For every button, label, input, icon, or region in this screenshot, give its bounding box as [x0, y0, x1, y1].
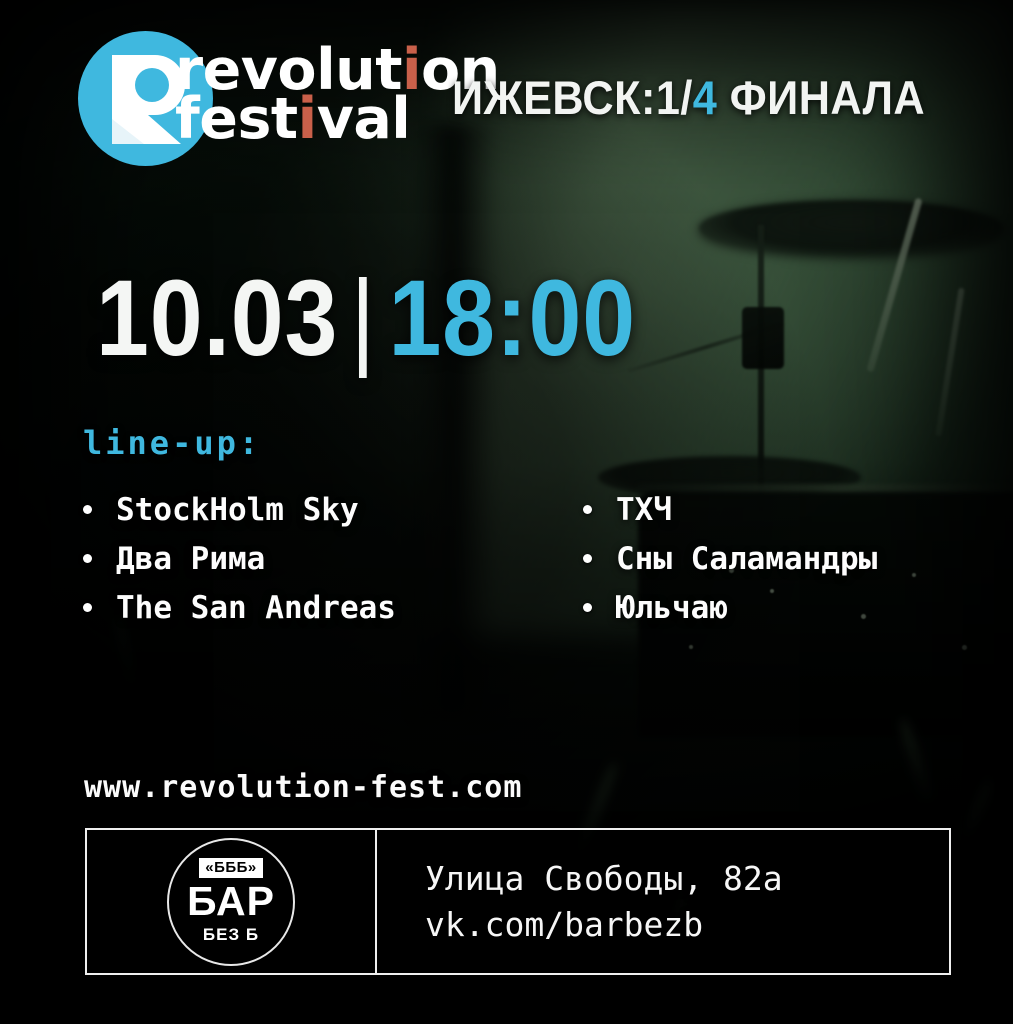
festival-website-url[interactable]: www.revolution-fest.com	[84, 770, 522, 805]
bullet-icon	[583, 554, 592, 563]
venue-logo-cell: «БББ» БАР БЕЗ Б	[87, 830, 377, 973]
list-item: The San Andreas	[83, 590, 583, 639]
band-name: StockHolm Sky	[116, 492, 359, 528]
bullet-icon	[83, 554, 92, 563]
city-title-prefix: ИЖЕВСК:1/	[452, 71, 693, 124]
city-title-accent: 4	[693, 71, 718, 124]
band-name: ТХЧ	[616, 492, 672, 528]
event-time: 18:00	[388, 257, 635, 378]
lineup-column-right: ТХЧ Сны Саламандры Юльчаю	[583, 492, 1013, 639]
venue-box: «БББ» БАР БЕЗ Б Улица Свободы, 82а vk.co…	[85, 828, 951, 975]
band-name: Два Рима	[116, 541, 265, 577]
list-item: Сны Саламандры	[583, 541, 1013, 590]
bullet-icon	[583, 603, 592, 612]
city-title-suffix: ФИНАЛА	[717, 71, 925, 124]
bar-logo-top-text: «БББ»	[199, 858, 263, 877]
venue-social-link[interactable]: vk.com/barbezb	[425, 902, 949, 948]
bar-logo-main-text: БАР	[187, 881, 275, 922]
list-item: Юльчаю	[583, 590, 1013, 639]
lineup-label: line-up:	[83, 424, 261, 462]
date-time-separator: |	[338, 257, 388, 378]
bullet-icon	[583, 505, 592, 514]
city-round-title: ИЖЕВСК:1/4 ФИНАЛА	[452, 70, 925, 125]
venue-address: Улица Свободы, 82а	[425, 856, 949, 902]
bullet-icon	[83, 505, 92, 514]
poster-header: revolution festival ИЖЕВСК:1/4 ФИНАЛА	[0, 0, 1013, 190]
poster-content: revolution festival ИЖЕВСК:1/4 ФИНАЛА 10…	[0, 0, 1013, 1024]
event-date: 10.03	[96, 257, 338, 378]
festival-poster: revolution festival ИЖЕВСК:1/4 ФИНАЛА 10…	[0, 0, 1013, 1024]
band-name: Сны Саламандры	[616, 541, 877, 577]
list-item: Два Рима	[83, 541, 583, 590]
list-item: StockHolm Sky	[83, 492, 583, 541]
band-name: The San Andreas	[116, 590, 396, 626]
band-name: Юльчаю	[616, 590, 728, 626]
bullet-icon	[83, 603, 92, 612]
lineup-column-left: StockHolm Sky Два Рима The San Andreas	[83, 492, 583, 639]
lineup-columns: StockHolm Sky Два Рима The San Andreas Т…	[83, 492, 1013, 639]
venue-info-cell: Улица Свободы, 82а vk.com/barbezb	[377, 830, 949, 973]
date-time-block: 10.03|18:00	[96, 264, 636, 372]
list-item: ТХЧ	[583, 492, 1013, 541]
bar-bez-b-logo-icon: «БББ» БАР БЕЗ Б	[167, 838, 295, 966]
bar-logo-sub-text: БЕЗ Б	[203, 925, 259, 945]
